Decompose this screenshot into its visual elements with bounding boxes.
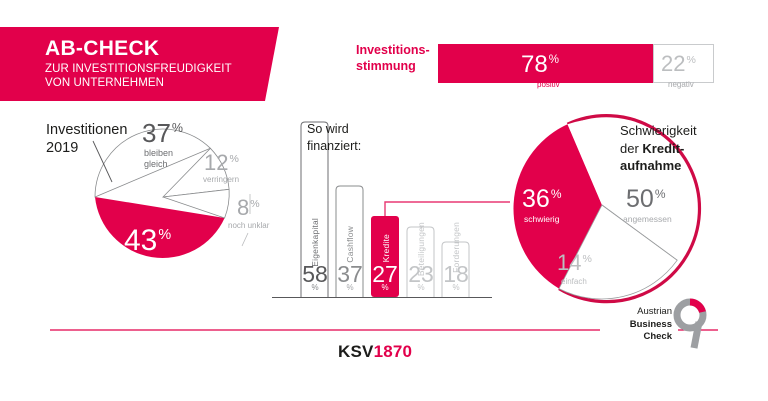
credit-pie-label-schwierig: schwierig	[524, 214, 559, 224]
credit-pie-value-schwierig-number: 36	[522, 185, 550, 213]
sentiment-negative-label: negativ	[668, 80, 694, 89]
page-title: AB-CHECK	[45, 38, 285, 59]
pie-value-verringern-percent: %	[229, 153, 238, 165]
sentiment-title: Investitions- stimmung	[356, 42, 430, 74]
page-subtitle: ZUR INVESTITIONSFREUDIGKEIT VON UNTERNEH…	[45, 63, 285, 90]
bar-percent-beteiligungen: %	[406, 283, 436, 292]
pie-label-bleiben-gleich: bleiben gleich	[144, 148, 173, 170]
credit-pie-label-angemessen: angemessen	[623, 214, 672, 224]
sentiment-positive-value: 78%	[521, 51, 559, 79]
credit-pie-value-einfach-percent: %	[582, 253, 591, 265]
credit-pie-value-einfach: 14%	[557, 250, 592, 276]
pie-value-erhoehen: 43%	[124, 224, 171, 258]
credit-pie-value-einfach-number: 14	[557, 250, 581, 275]
credit-pie-title-line-1: Schwierigkeit	[620, 122, 697, 140]
bar-percent-kredite: %	[370, 283, 400, 292]
credit-pie-title-line-3: aufnahme	[620, 157, 697, 175]
abc-logo-line-2: Business	[608, 319, 672, 332]
credit-pie-value-schwierig: 36%	[522, 185, 561, 214]
credit-pie-title-line-2: der Kredit-	[620, 140, 697, 158]
pie-label-bleiben-gleich-line-2: gleich	[144, 159, 173, 170]
credit-pie-title-line-3-bold: aufnahme	[620, 158, 681, 173]
austrian-business-check-logo-mark	[677, 302, 703, 348]
infographic-canvas: AB-CHECK ZUR INVESTITIONSFREUDIGKEIT VON…	[0, 0, 768, 401]
abc-logo-line-3: Check	[608, 331, 672, 344]
pie-value-noch-unklar-number: 8	[237, 195, 249, 220]
sentiment-negative-value: 22%	[661, 51, 696, 77]
credit-pie-value-angemessen-number: 50	[626, 185, 654, 213]
credit-pie-value-angemessen-percent: %	[655, 187, 666, 201]
bar-percent-forderungen: %	[441, 283, 471, 292]
pie-value-verringern-number: 12	[204, 150, 228, 175]
pie-value-erhoehen-number: 43	[124, 224, 157, 257]
bar-category-kredite: Kredite	[381, 234, 391, 262]
pie-label-bleiben-gleich-line-1: bleiben	[144, 148, 173, 159]
page-subtitle-line-1: ZUR INVESTITIONSFREUDIGKEIT	[45, 63, 285, 77]
investments-pie-title-line-1: Investitionen	[46, 122, 127, 140]
sentiment-positive-number: 78	[521, 51, 548, 78]
pie-value-erhoehen-percent: %	[158, 227, 171, 243]
logo-accent-arc	[690, 302, 703, 312]
pie-value-bleiben-gleich-number: 37	[142, 118, 171, 148]
ksv-logo: KSV1870	[338, 342, 412, 362]
credit-pie-title: Schwierigkeit der Kredit- aufnahme	[620, 122, 697, 175]
pie-value-noch-unklar-percent: %	[250, 198, 259, 210]
pie-value-noch-unklar: 8%	[237, 195, 260, 221]
ksv-logo-prefix: KSV	[338, 342, 374, 361]
financing-title: So wird finanziert:	[307, 121, 361, 154]
pie-label-verringern: verringern	[203, 175, 239, 184]
page-subtitle-line-2: VON UNTERNEHMEN	[45, 77, 285, 91]
sentiment-negative-percent: %	[686, 54, 695, 66]
kredite-connector-line	[385, 202, 510, 216]
credit-pie-value-schwierig-percent: %	[551, 187, 562, 201]
investments-pie-title: Investitionen 2019	[46, 122, 127, 157]
credit-pie-value-angemessen: 50%	[626, 185, 665, 214]
bar-category-cashflow: Cashflow	[345, 226, 355, 263]
ksv-logo-number: 1870	[374, 342, 413, 361]
sentiment-positive-percent: %	[549, 54, 559, 66]
logo-tail	[694, 322, 699, 348]
header-banner-text: AB-CHECK ZUR INVESTITIONSFREUDIGKEIT VON…	[45, 38, 285, 90]
austrian-business-check-logo-text: Austrian Business Check	[608, 306, 672, 344]
credit-pie-title-line-2-bold: Kredit-	[642, 141, 684, 156]
pie-value-verringern: 12%	[204, 150, 239, 176]
pie-value-bleiben-gleich-percent: %	[172, 121, 183, 135]
bar-category-eigenkapital: Eigenkapital	[310, 218, 320, 267]
investments-pie-title-line-2: 2019	[46, 140, 127, 158]
pie-tick-noch-unklar-lower	[242, 233, 248, 246]
abc-logo-line-1: Austrian	[608, 306, 672, 319]
sentiment-negative-number: 22	[661, 51, 685, 76]
pie-value-bleiben-gleich: 37%	[142, 118, 183, 149]
pie-label-erhoehen: erhöhen	[130, 260, 165, 271]
bar-percent-cashflow: %	[335, 283, 365, 292]
sentiment-positive-label: positiv	[537, 80, 560, 89]
financing-title-line-1: So wird	[307, 121, 361, 138]
sentiment-title-line-2: stimmung	[356, 58, 430, 74]
bar-percent-eigenkapital: %	[300, 283, 330, 292]
pie-label-noch-unklar: noch unklar	[228, 221, 269, 230]
financing-title-line-2: finanziert:	[307, 138, 361, 155]
sentiment-title-line-1: Investitions-	[356, 42, 430, 58]
credit-pie-label-einfach: einfach	[561, 277, 587, 286]
credit-pie-title-line-2-pre: der	[620, 141, 642, 156]
